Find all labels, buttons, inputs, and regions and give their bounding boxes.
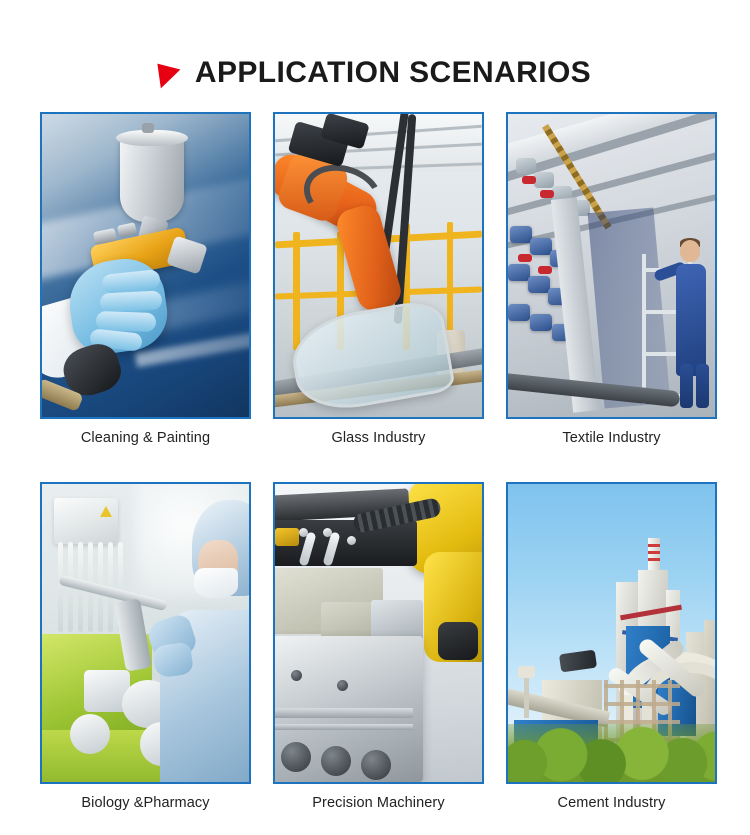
gallery-item-cleaning-painting[interactable]: Cleaning & Painting — [40, 112, 251, 447]
scenario-caption: Cleaning & Painting — [40, 430, 251, 447]
triangle-right-icon — [157, 60, 182, 88]
scenario-gallery-row-2: Biology &Pharmacy — [40, 447, 710, 812]
scenario-gallery: Cleaning & Painting Glass Industry — [40, 112, 710, 447]
scenario-photo-glass-industry[interactable] — [273, 112, 484, 419]
scenario-photo-cleaning-painting[interactable] — [40, 112, 251, 419]
spray-gun-photo — [42, 114, 249, 417]
page-title: APPLICATION SCENARIOS — [195, 58, 591, 88]
gallery-item-textile-industry[interactable]: Textile Industry — [506, 112, 717, 447]
gallery-item-cement-industry[interactable]: Cement Industry — [506, 482, 717, 812]
section-header: APPLICATION SCENARIOS — [0, 38, 750, 108]
glass-robot-photo — [275, 114, 482, 417]
cement-plant-photo — [508, 484, 715, 782]
gallery-item-precision-machinery[interactable]: Precision Machinery — [273, 482, 484, 812]
scenario-caption: Precision Machinery — [273, 795, 484, 812]
cleanroom-photo — [42, 484, 249, 782]
scenario-caption: Biology &Pharmacy — [40, 795, 251, 812]
scenario-caption: Textile Industry — [506, 430, 717, 447]
scenario-photo-biology-pharmacy[interactable] — [40, 482, 251, 784]
scenario-caption: Glass Industry — [273, 430, 484, 447]
scenario-caption: Cement Industry — [506, 795, 717, 812]
robot-engine-photo — [275, 484, 482, 782]
scenario-photo-textile-industry[interactable] — [506, 112, 717, 419]
gallery-item-glass-industry[interactable]: Glass Industry — [273, 112, 484, 447]
textile-machine-photo — [508, 114, 715, 417]
gallery-item-biology-pharmacy[interactable]: Biology &Pharmacy — [40, 482, 251, 812]
scenario-photo-precision-machinery[interactable] — [273, 482, 484, 784]
scenario-photo-cement-industry[interactable] — [506, 482, 717, 784]
